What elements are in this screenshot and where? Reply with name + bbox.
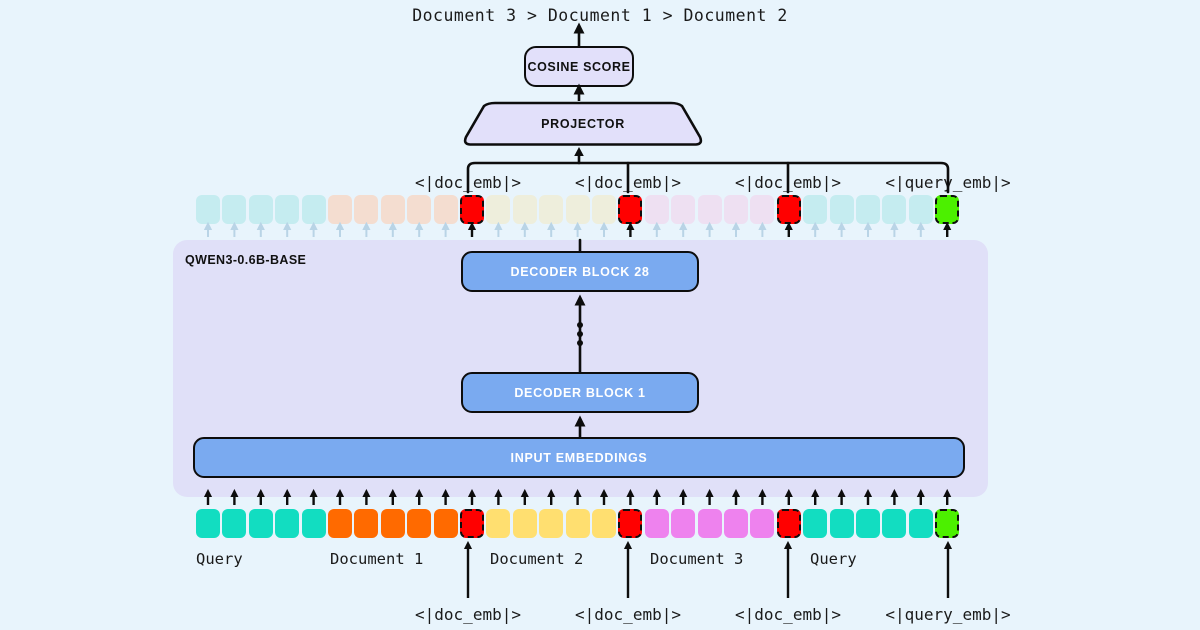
ranking-result-text: Document 3 > Document 1 > Document 2 (0, 6, 1200, 25)
projector-shape: PROJECTOR (462, 101, 704, 147)
token-query (882, 509, 906, 538)
token-doc3 (698, 195, 722, 224)
token-query-emb (935, 195, 959, 224)
token-doc1 (328, 195, 352, 224)
token-doc1 (407, 195, 431, 224)
token-query (275, 195, 299, 224)
token-doc-emb (460, 509, 484, 538)
token-doc3 (724, 509, 748, 538)
segment-label-1: Document 1 (330, 550, 423, 568)
token-doc1 (381, 509, 405, 538)
token-query (249, 509, 273, 538)
token-doc2 (486, 195, 510, 224)
token-doc3 (750, 509, 774, 538)
token-query (882, 195, 906, 224)
token-query (830, 509, 854, 538)
segment-label-2: Document 2 (490, 550, 583, 568)
token-doc-emb (460, 195, 484, 224)
token-doc3 (724, 195, 748, 224)
segment-label-0: Query (196, 550, 243, 568)
cosine-score-box: COSINE SCORE (524, 46, 634, 87)
token-query-emb (935, 509, 959, 538)
token-query (909, 509, 933, 538)
token-doc2 (566, 195, 590, 224)
token-query (196, 195, 220, 224)
token-doc2 (539, 509, 563, 538)
segment-label-4: Query (810, 550, 857, 568)
token-doc2 (539, 195, 563, 224)
token-query (222, 509, 246, 538)
token-query (803, 509, 827, 538)
token-doc2 (592, 195, 616, 224)
token-doc-emb (777, 509, 801, 538)
token-query (856, 509, 880, 538)
token-query (302, 509, 326, 538)
decoder-block-28: DECODER BLOCK 28 (461, 251, 699, 292)
token-doc1 (434, 195, 458, 224)
token-query (222, 195, 246, 224)
token-doc1 (434, 509, 458, 538)
token-query (803, 195, 827, 224)
token-query (196, 509, 220, 538)
token-doc1 (381, 195, 405, 224)
token-doc2 (486, 509, 510, 538)
input-emb-label-3: <|query_emb|> (838, 605, 1058, 624)
token-doc1 (328, 509, 352, 538)
token-query (830, 195, 854, 224)
segment-label-3: Document 3 (650, 550, 743, 568)
token-doc-emb (618, 509, 642, 538)
token-query (302, 195, 326, 224)
diagram-canvas: Document 3 > Document 1 > Document 2 COS… (0, 0, 1200, 630)
token-query (249, 195, 273, 224)
token-doc3 (671, 509, 695, 538)
token-query (856, 195, 880, 224)
token-doc3 (698, 509, 722, 538)
token-doc3 (671, 195, 695, 224)
token-doc2 (513, 195, 537, 224)
output-emb-label-3: <|query_emb|> (838, 173, 1058, 192)
token-doc2 (513, 509, 537, 538)
decoder-block-1: DECODER BLOCK 1 (461, 372, 699, 413)
token-doc-emb (618, 195, 642, 224)
model-name-label: QWEN3-0.6B-BASE (185, 253, 306, 267)
token-query (909, 195, 933, 224)
token-doc-emb (777, 195, 801, 224)
token-doc2 (592, 509, 616, 538)
input-embeddings-block: INPUT EMBEDDINGS (193, 437, 965, 478)
token-query (275, 509, 299, 538)
token-doc3 (750, 195, 774, 224)
token-doc3 (645, 195, 669, 224)
token-doc2 (566, 509, 590, 538)
token-doc3 (645, 509, 669, 538)
token-doc1 (407, 509, 431, 538)
token-doc1 (354, 195, 378, 224)
token-doc1 (354, 509, 378, 538)
